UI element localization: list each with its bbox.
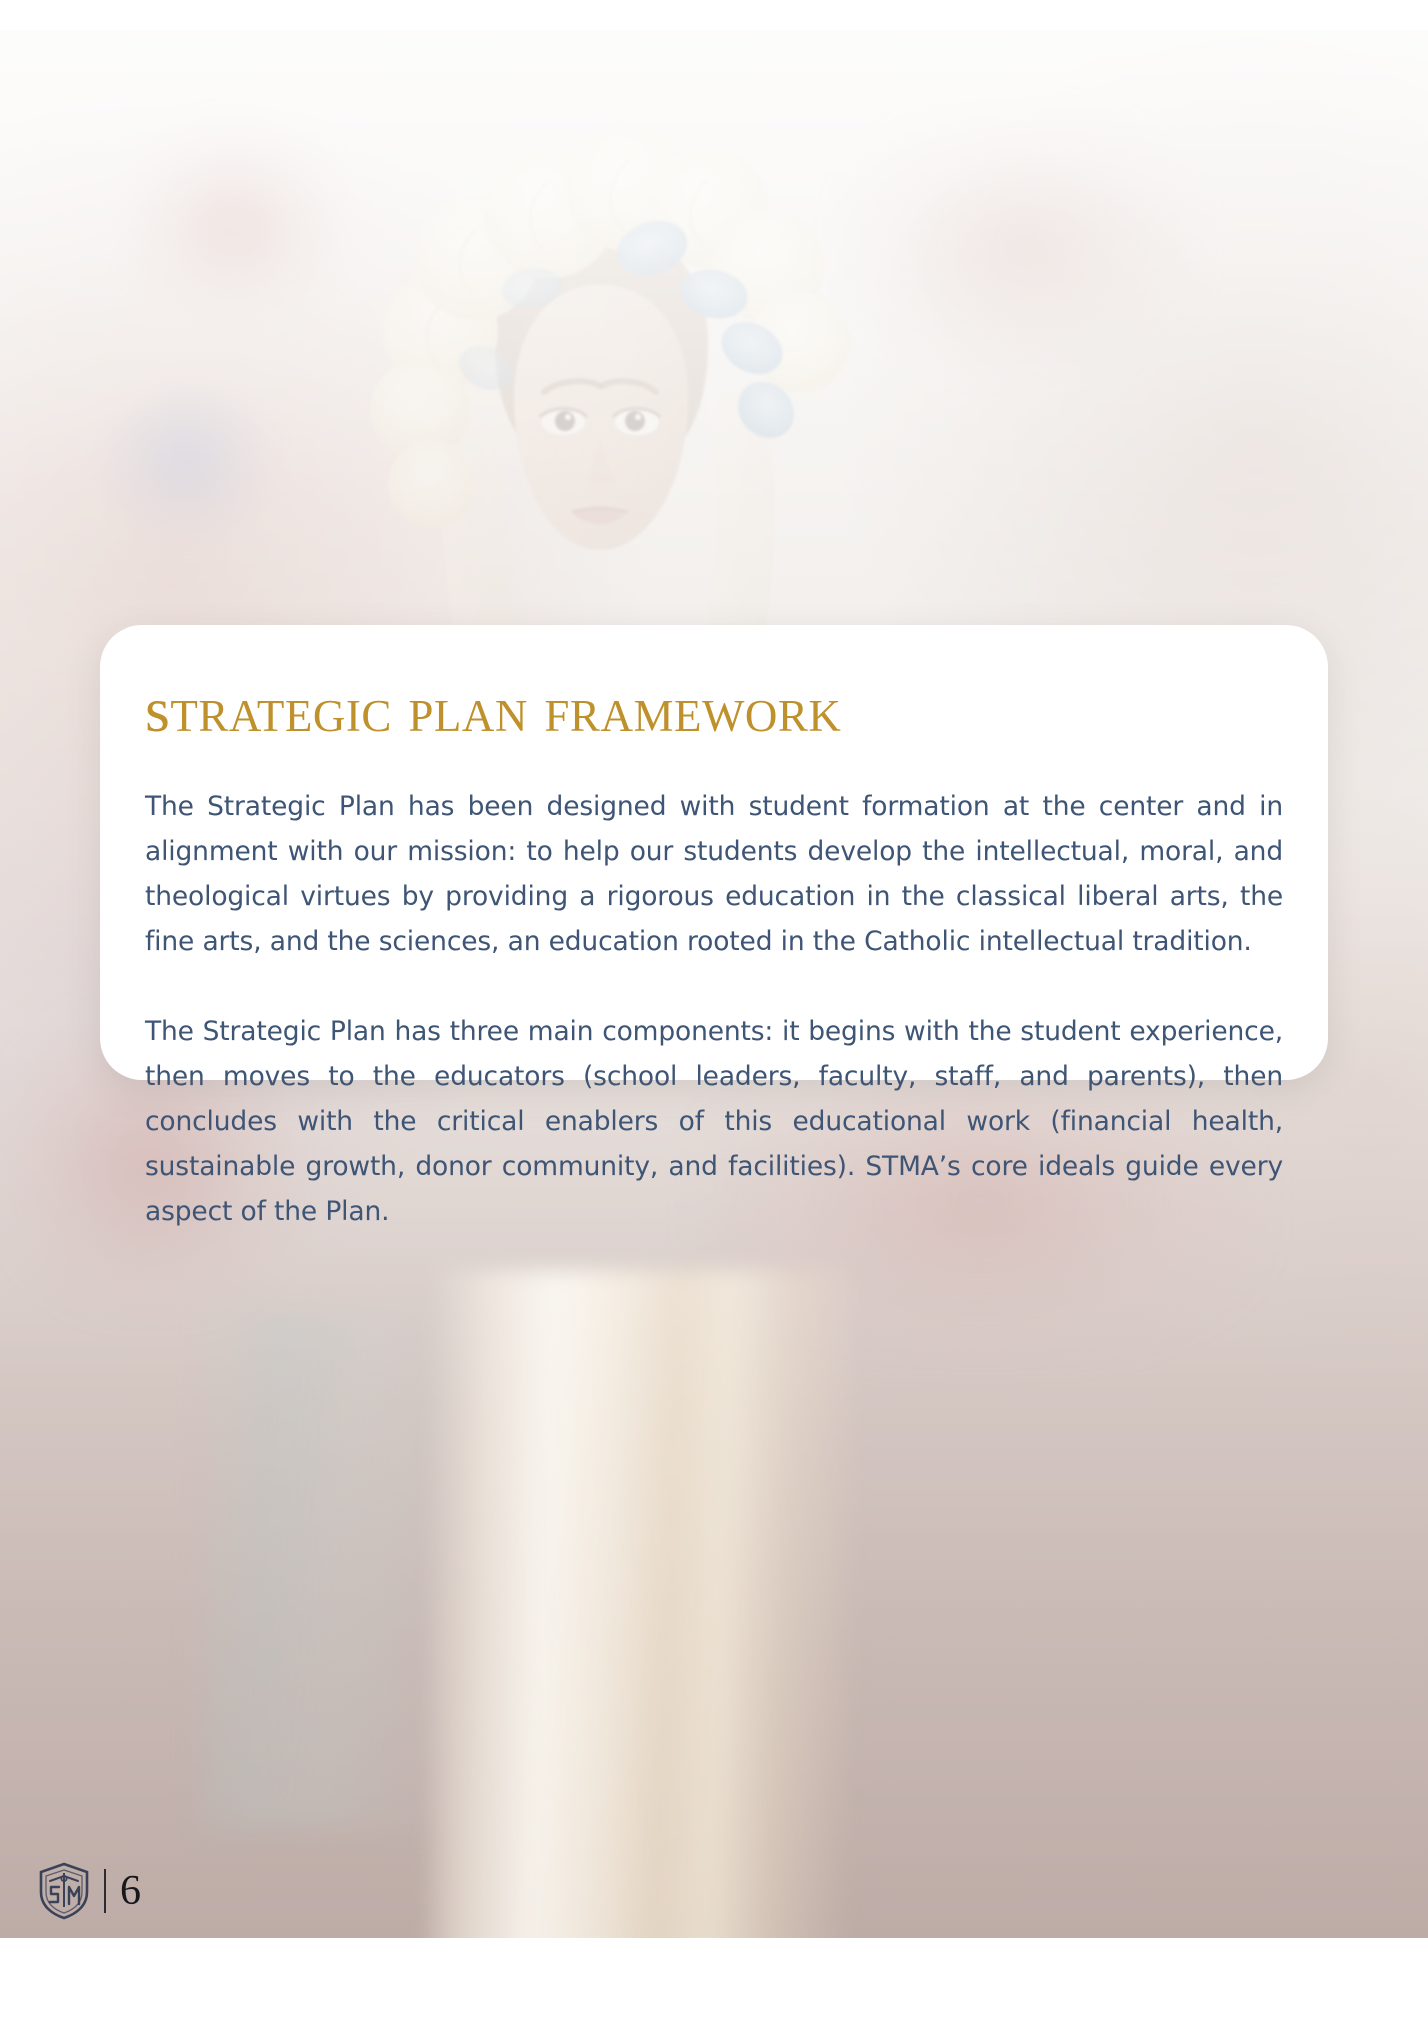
page-footer: 6 [38,1862,141,1920]
document-page: Strategic Plan Framework The Strategic P… [0,0,1428,2028]
content-card-inner: Strategic Plan Framework The Strategic P… [100,625,1328,1280]
footer-divider [104,1869,106,1913]
body-paragraph-2: The Strategic Plan has three main compon… [145,1009,1283,1234]
content-card: Strategic Plan Framework The Strategic P… [100,625,1328,1080]
page-title: Strategic Plan Framework [145,677,1283,742]
body-paragraph-1: The Strategic Plan has been designed wit… [145,784,1283,964]
page-number: 6 [120,1870,141,1912]
stma-shield-icon [38,1862,90,1920]
